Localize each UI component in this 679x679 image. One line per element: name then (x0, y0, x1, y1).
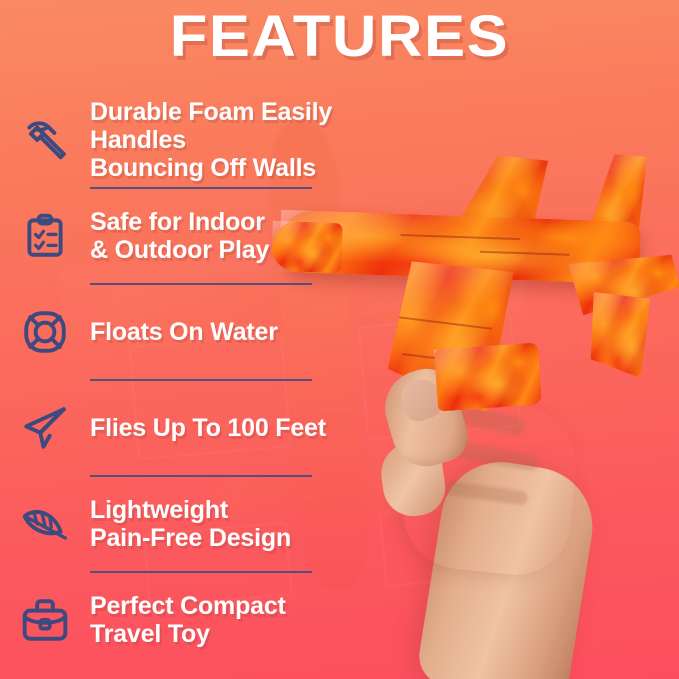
plane-lower-tail (586, 292, 664, 378)
feature-label: Lightweight Pain-Free Design (90, 496, 291, 552)
feature-list: Durable Foam Easily Handles Bouncing Off… (0, 92, 360, 668)
feature-label: Floats On Water (90, 318, 278, 346)
thumbnail (397, 375, 446, 425)
feature-infographic: FEATURES (0, 0, 679, 679)
feather-icon (0, 499, 90, 549)
page-title: FEATURES (0, 8, 679, 66)
palm (398, 394, 583, 581)
feature-label: Perfect Compact Travel Toy (90, 592, 360, 648)
feature-item-lightweight: Lightweight Pain-Free Design (0, 476, 360, 572)
feature-item-durable-foam: Durable Foam Easily Handles Bouncing Off… (0, 92, 360, 188)
forearm (415, 454, 601, 679)
plane-grip-section (434, 342, 542, 411)
clipboard-checklist-icon (0, 211, 90, 261)
hammer-icon (0, 115, 90, 165)
plane-tailplane (567, 253, 679, 317)
thumb (376, 362, 474, 475)
plane-main-wing (416, 154, 552, 275)
feature-item-flies-100-feet: Flies Up To 100 Feet (0, 380, 360, 476)
hand-holding-plane (344, 346, 594, 679)
briefcase-icon (0, 595, 90, 645)
feature-label: Safe for Indoor & Outdoor Play (90, 208, 269, 264)
feature-label: Durable Foam Easily Handles Bouncing Off… (90, 98, 360, 182)
feature-item-floats-on-water: Floats On Water (0, 284, 360, 380)
paper-airplane-icon (0, 403, 90, 453)
plane-near-wing (379, 261, 520, 413)
life-ring-icon (0, 307, 90, 357)
feature-label: Flies Up To 100 Feet (90, 414, 326, 442)
plane-tail-fin (567, 153, 647, 272)
feature-item-safe-indoor-outdoor: Safe for Indoor & Outdoor Play (0, 188, 360, 284)
feature-item-travel-toy: Perfect Compact Travel Toy (0, 572, 360, 668)
index-finger (377, 438, 449, 520)
